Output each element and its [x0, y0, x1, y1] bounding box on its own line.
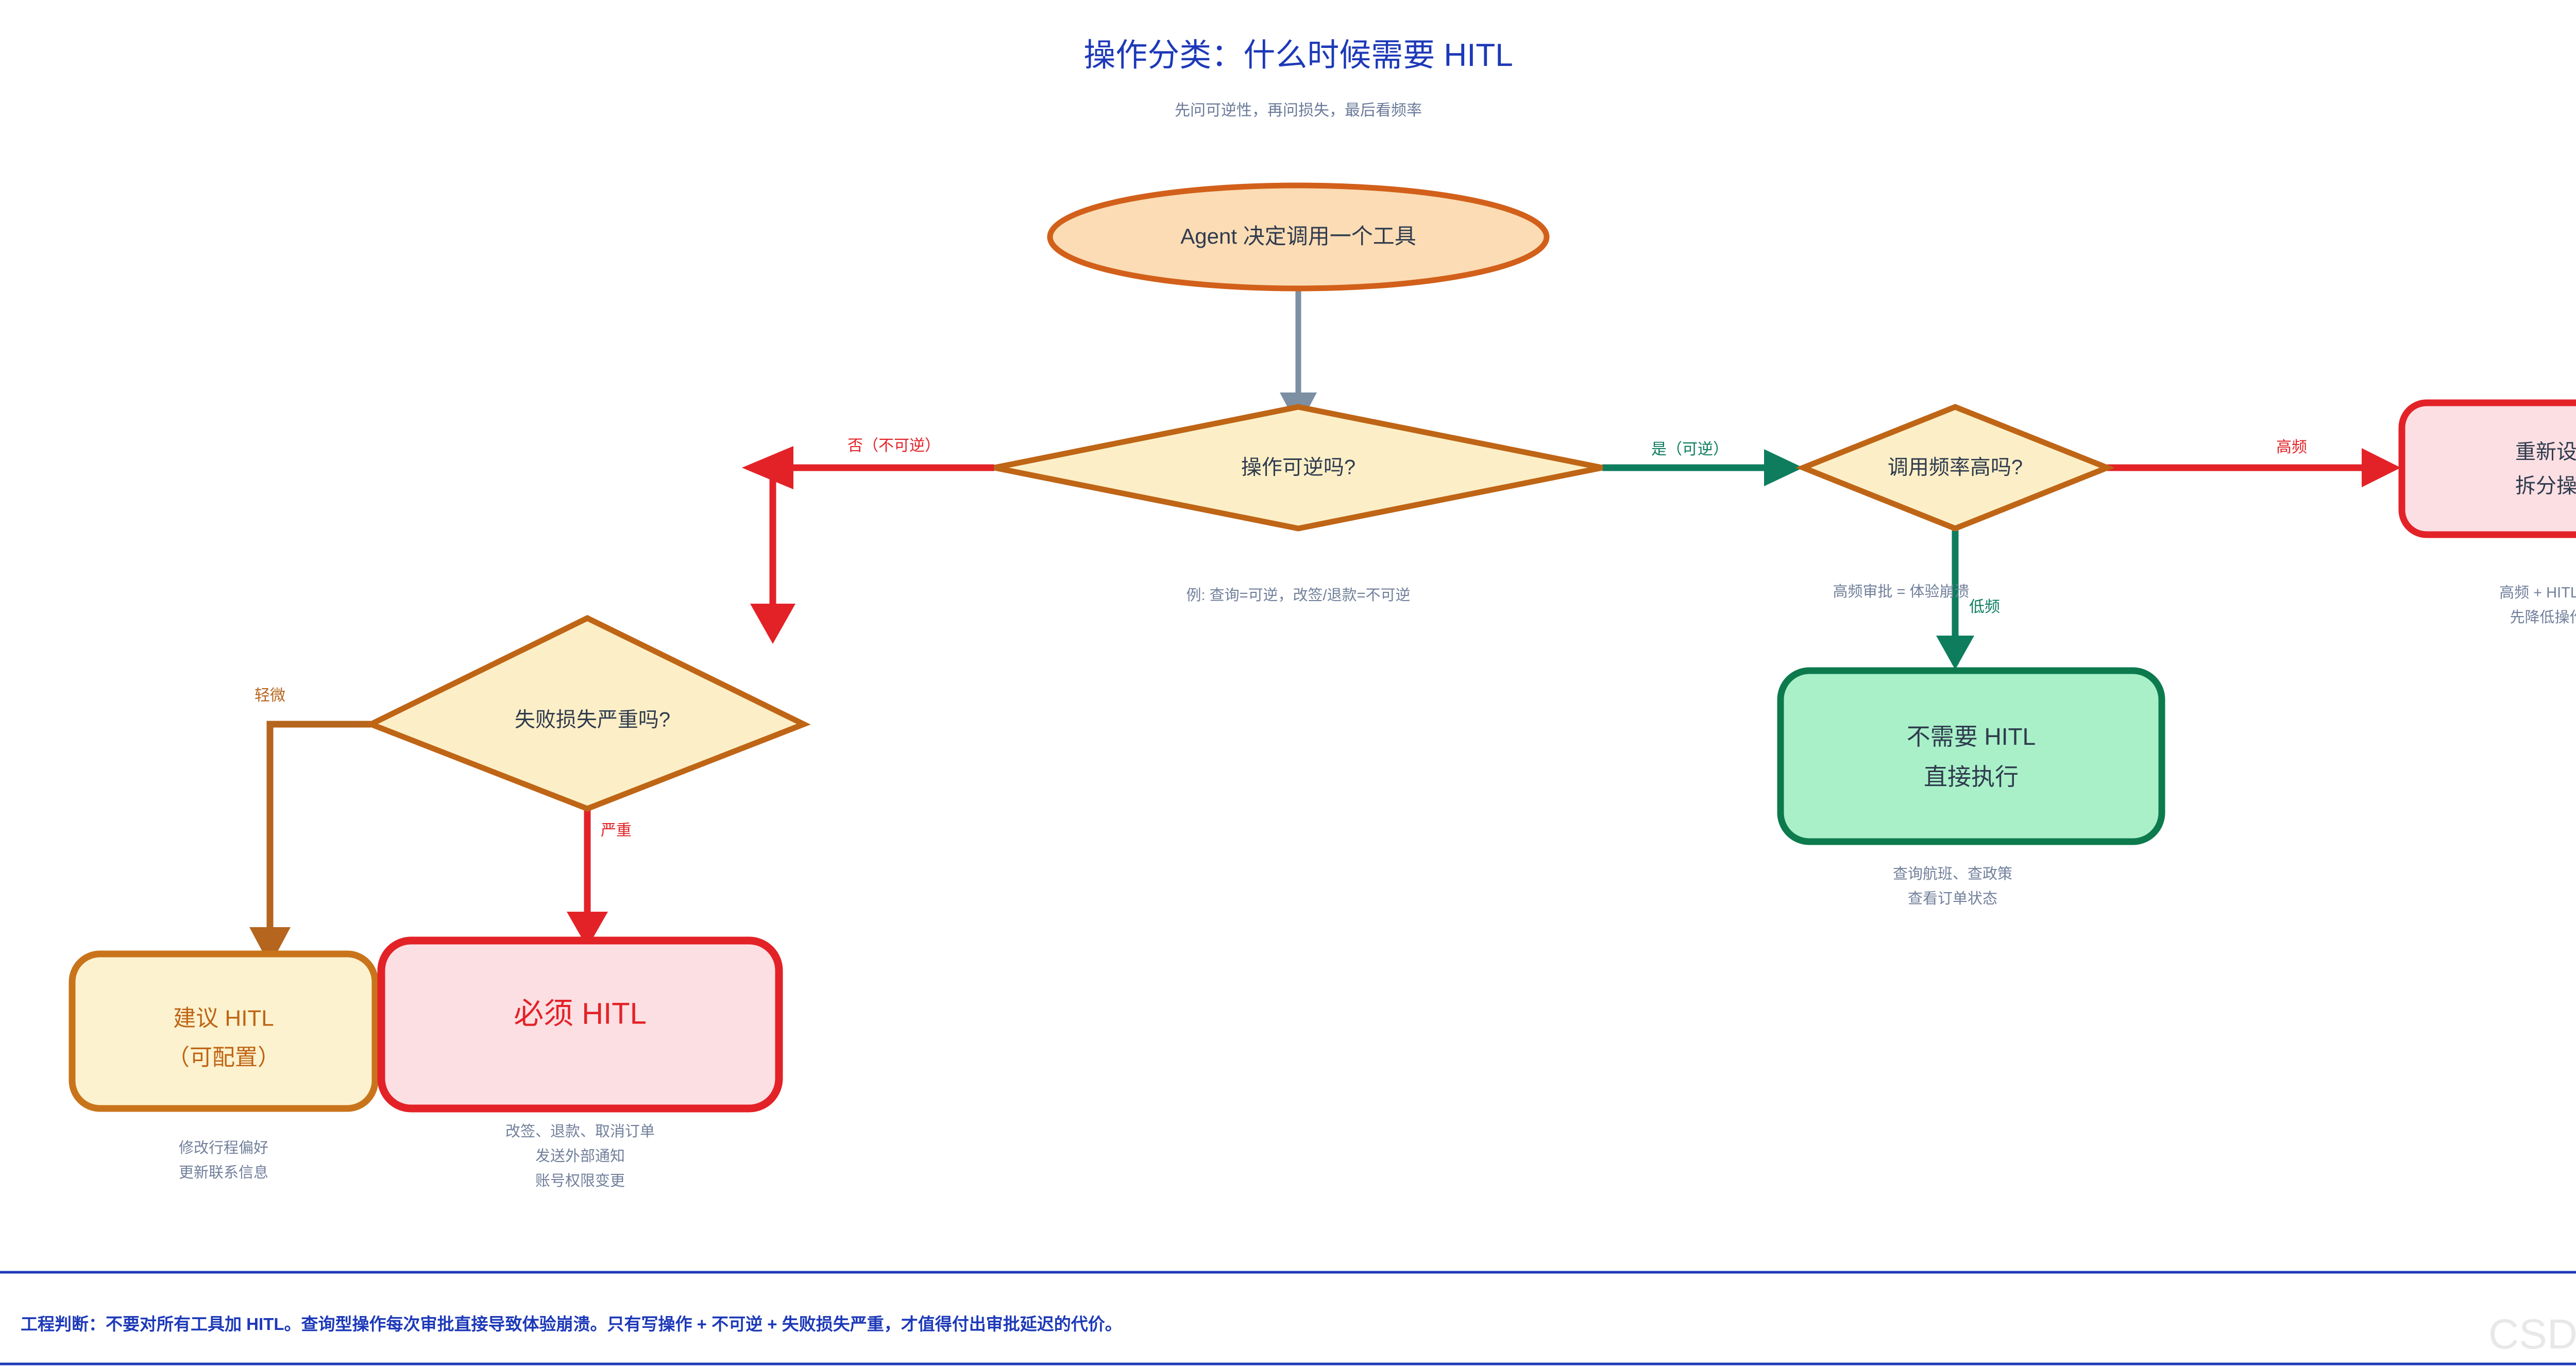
edge-reversible-no: 否（不可逆）: [742, 437, 994, 644]
node-redesign-tool[interactable]: 重新设计工具 拆分操作粒度 高频 + HITL = 体验灾难 先降低操作影响范围: [2402, 403, 2576, 626]
node-redesign-tool-label-1: 重新设计工具: [2515, 441, 2576, 464]
note-suggest-hitl-2: 更新联系信息: [179, 1164, 268, 1181]
page-subtitle: 先问可逆性，再问损失，最后看频率: [1175, 102, 1422, 119]
node-decision-frequency-label: 调用频率高吗?: [1888, 456, 2023, 479]
note-redesign-tool-1: 高频 + HITL = 体验灾难: [2499, 584, 2576, 601]
node-decision-loss-label: 失败损失严重吗?: [515, 709, 670, 731]
node-start-label: Agent 决定调用一个工具: [1180, 224, 1416, 248]
note-suggest-hitl-1: 修改行程偏好: [179, 1139, 268, 1156]
edge-label-loss-severe: 严重: [601, 822, 632, 839]
node-no-hitl[interactable]: 不需要 HITL 直接执行 查询航班、查政策 查看订单状态: [1781, 671, 2162, 907]
node-suggest-hitl-label-1: 建议 HITL: [173, 1006, 274, 1031]
edge-label-loss-minor: 轻微: [255, 687, 285, 704]
node-suggest-hitl[interactable]: 建议 HITL （可配置） 修改行程偏好 更新联系信息: [72, 954, 375, 1181]
node-no-hitl-label-1: 不需要 HITL: [1907, 723, 2036, 750]
node-suggest-hitl-label-2: （可配置）: [167, 1045, 280, 1070]
edge-label-reversible-no: 否（不可逆）: [848, 437, 940, 454]
note-must-hitl-1: 改签、退款、取消订单: [505, 1123, 655, 1140]
note-must-hitl-2: 发送外部通知: [535, 1148, 625, 1165]
flowchart-svg: 操作分类：什么时候需要 HITL 先问可逆性，再问损失，最后看频率 否（不可逆）…: [0, 0, 2576, 1366]
note-must-hitl-3: 账号权限变更: [535, 1172, 625, 1189]
node-no-hitl-label-2: 直接执行: [1924, 763, 2019, 790]
node-redesign-tool-label-2: 拆分操作粒度: [2515, 475, 2576, 498]
node-start[interactable]: Agent 决定调用一个工具: [1050, 185, 1547, 288]
node-decision-reversible-label: 操作可逆吗?: [1241, 456, 1355, 479]
note-no-hitl-2: 查看订单状态: [1908, 890, 1997, 907]
edge-frequency-high: 高频: [2107, 439, 2401, 487]
node-decision-reversible[interactable]: 操作可逆吗? 例: 查询=可逆，改签/退款=不可逆: [994, 407, 1602, 604]
note-redesign-tool-2: 先降低操作影响范围: [2510, 609, 2576, 626]
node-must-hitl[interactable]: 必须 HITL 改签、退款、取消订单 发送外部通知 账号权限变更: [381, 941, 779, 1189]
edge-label-reversible-yes: 是（可逆）: [1651, 441, 1728, 458]
note-decision-frequency: 高频审批 = 体验崩溃: [1833, 583, 1969, 600]
edge-frequency-low: 低频: [1936, 531, 2000, 670]
node-decision-loss[interactable]: 失败损失严重吗?: [371, 618, 804, 809]
edge-start-to-reversible: [1280, 269, 1317, 428]
page-title: 操作分类：什么时候需要 HITL: [1083, 38, 1513, 73]
flowchart-canvas: 操作分类：什么时候需要 HITL 先问可逆性，再问损失，最后看频率 否（不可逆）…: [0, 0, 2576, 1366]
edge-loss-severe: 严重: [567, 809, 632, 948]
edge-loss-minor: 轻微: [249, 687, 371, 966]
watermark-primary: CSDN @段小二: [2488, 1311, 2576, 1358]
edge-label-frequency-high: 高频: [2276, 439, 2307, 456]
edge-reversible-yes: 是（可逆）: [1602, 441, 1803, 486]
note-decision-reversible: 例: 查询=可逆，改签/退款=不可逆: [1186, 587, 1410, 604]
note-no-hitl-1: 查询航班、查政策: [1893, 865, 2012, 882]
footer-note: 工程判断：不要对所有工具加 HITL。查询型操作每次审批直接导致体验崩溃。只有写…: [21, 1314, 1122, 1334]
edge-label-frequency-low: 低频: [1969, 599, 2000, 616]
node-must-hitl-label: 必须 HITL: [514, 997, 647, 1030]
